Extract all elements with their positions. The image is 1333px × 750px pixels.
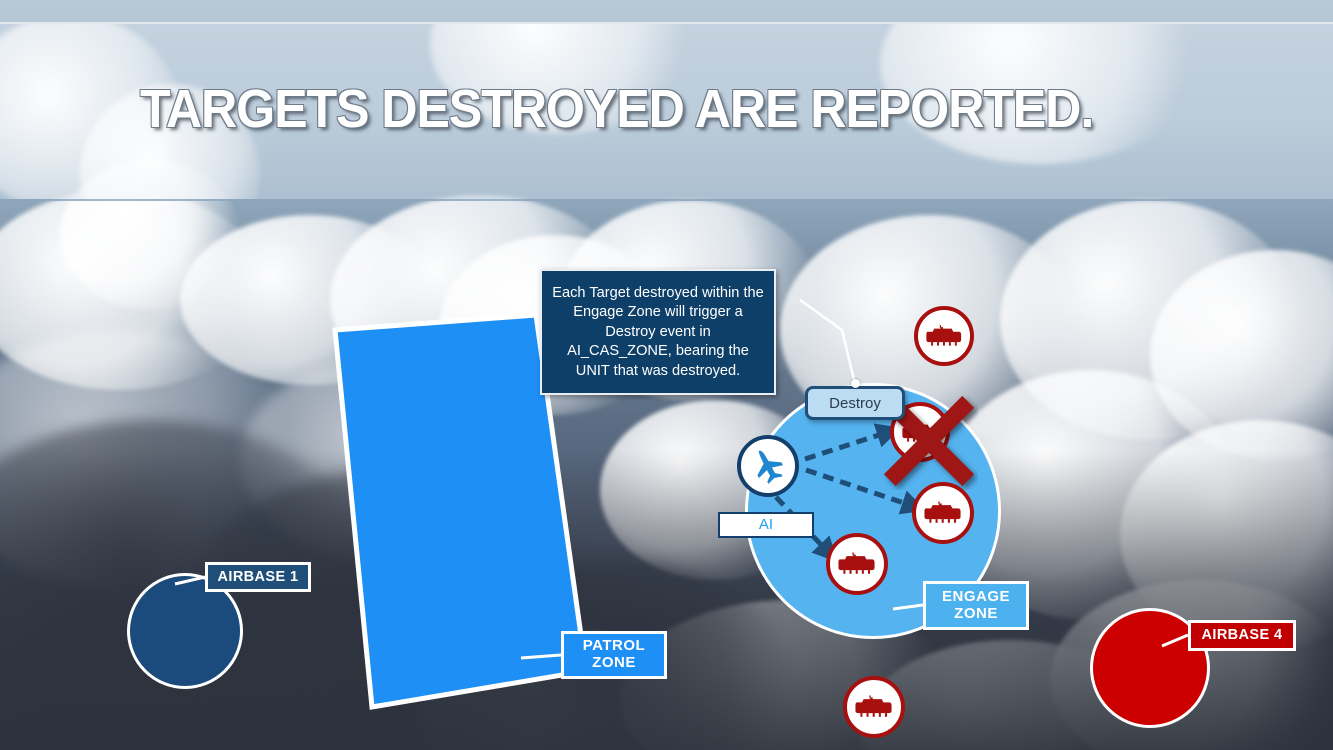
- armored-vehicle-icon: [853, 686, 894, 727]
- airbase-4-label[interactable]: AIRBASE 4: [1188, 620, 1296, 651]
- airbase-1-label[interactable]: AIRBASE 1: [205, 562, 311, 592]
- armored-vehicle-icon: [924, 316, 964, 356]
- page-title: TARGETS DESTROYED ARE REPORTED.: [140, 78, 1093, 140]
- armored-vehicle-icon: [922, 492, 963, 533]
- patrol-zone-label[interactable]: PATROL ZONE: [561, 631, 667, 679]
- fighter-jet-icon: [748, 446, 788, 486]
- engage-zone-label[interactable]: ENGAGE ZONE: [923, 581, 1029, 630]
- target-unit-south[interactable]: [826, 533, 888, 595]
- ai-aircraft-unit[interactable]: [737, 435, 799, 497]
- patrol-zone-label-line1: PATROL: [583, 638, 645, 655]
- engage-zone-label-line2: ZONE: [942, 606, 1010, 623]
- target-unit-outside-south[interactable]: [843, 676, 905, 738]
- target-unit-outside-north[interactable]: [914, 306, 974, 366]
- engage-zone-label-line1: ENGAGE: [942, 589, 1010, 606]
- patrol-zone-label-line2: ZONE: [583, 655, 645, 672]
- destroy-event-callout[interactable]: Destroy: [805, 386, 905, 420]
- target-unit-east[interactable]: [912, 482, 974, 544]
- slide-canvas: TARGETS DESTROYED ARE REPORTED.: [0, 0, 1333, 750]
- armored-vehicle-icon: [836, 543, 877, 584]
- explanation-textbox: Each Target destroyed within the Engage …: [540, 269, 776, 395]
- ai-label[interactable]: AI: [718, 512, 814, 538]
- callout-connector-handle[interactable]: [851, 379, 860, 388]
- armored-vehicle-icon: [900, 412, 940, 452]
